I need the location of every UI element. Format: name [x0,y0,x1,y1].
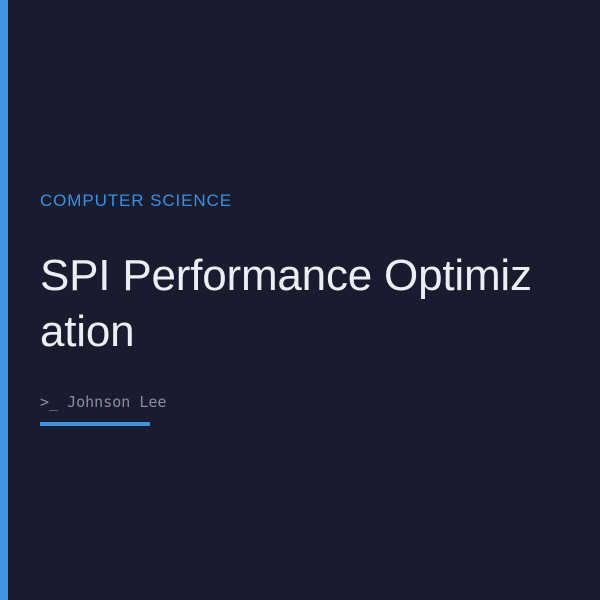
author-name: Johnson Lee [67,393,166,411]
accent-underline-bar [40,422,150,426]
page-title: SPI Performance Optimization [40,248,540,360]
author-line: >_ Johnson Lee [40,392,540,412]
category-label: COMPUTER SCIENCE [40,190,540,212]
card-content: COMPUTER SCIENCE SPI Performance Optimiz… [40,190,540,426]
terminal-prompt-icon: >_ [40,393,58,411]
title-card: COMPUTER SCIENCE SPI Performance Optimiz… [0,0,600,600]
left-accent-stripe [0,0,8,600]
